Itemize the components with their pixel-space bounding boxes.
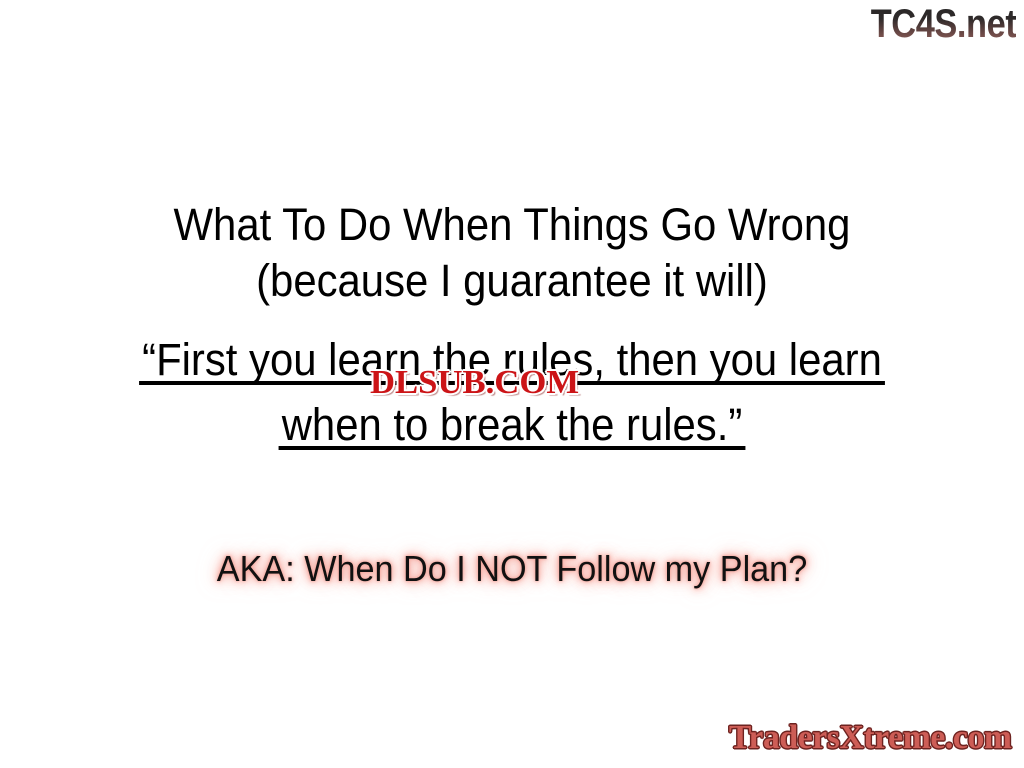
quote-line-2-row: when to break the rules.”: [36, 395, 988, 455]
tc4s-site-watermark: TC4S.net: [870, 2, 1016, 46]
quote-line-2: when to break the rules.”: [282, 395, 743, 455]
presentation-slide: TC4S.net What To Do When Things Go Wrong…: [0, 0, 1024, 768]
dlsub-overlay-watermark: DLSUB.COM: [370, 366, 579, 400]
slide-title-line-2: (because I guarantee it will): [36, 253, 988, 309]
slide-title: What To Do When Things Go Wrong (because…: [36, 197, 988, 309]
slide-subtitle: AKA: When Do I NOT Follow my Plan?: [26, 547, 999, 591]
slide-title-line-1: What To Do When Things Go Wrong: [36, 197, 988, 253]
tradersxtreme-brand-watermark: TradersXtreme.com: [729, 718, 1012, 758]
